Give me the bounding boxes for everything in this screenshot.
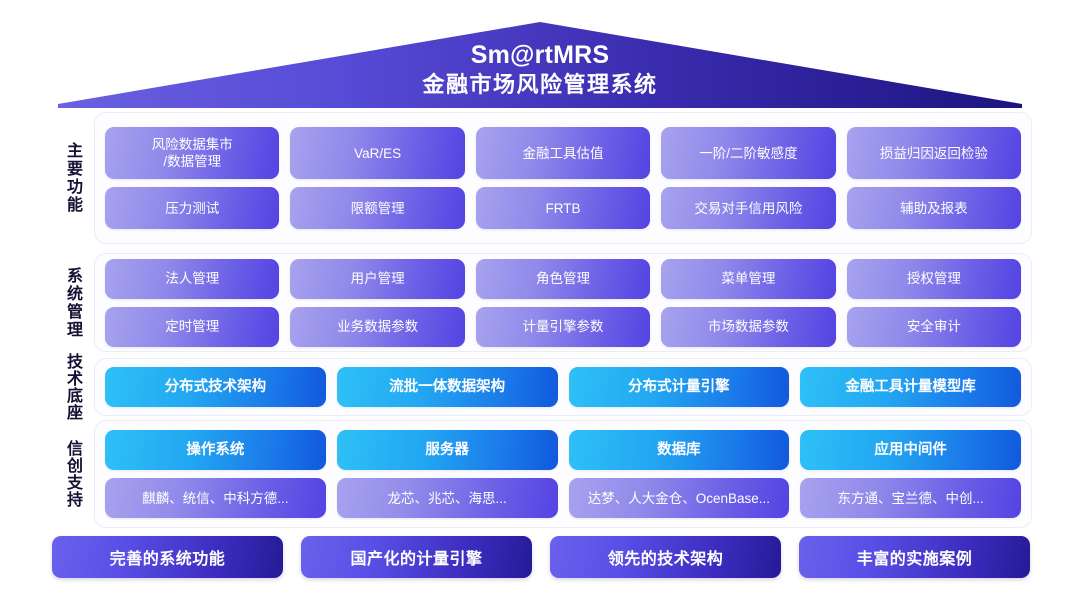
highlight-rich-implementation-cases[interactable]: 丰富的实施案例 <box>799 536 1030 578</box>
section-label-main-features: 主要功能 <box>50 142 94 214</box>
card-risk-data-mart[interactable]: 风险数据集市 /数据管理 <box>105 127 279 179</box>
section-label-technology-base: 技术底座 <box>50 353 94 421</box>
card-financial-instrument-valuation[interactable]: 金融工具估值 <box>476 127 650 179</box>
row-main-features-1: 风险数据集市 /数据管理 VaR/ES 金融工具估值 一阶/二阶敏感度 损益归因… <box>105 127 1021 179</box>
panel-system-management: 法人管理 用户管理 角色管理 菜单管理 授权管理 定时管理 业务数据参数 计量引… <box>94 253 1032 352</box>
highlight-complete-system-features[interactable]: 完善的系统功能 <box>52 536 283 578</box>
card-user-management[interactable]: 用户管理 <box>290 259 464 299</box>
roof-banner: Sm@rtMRS 金融市场风险管理系统 <box>0 0 1080 108</box>
card-financial-instrument-model-library[interactable]: 金融工具计量模型库 <box>800 367 1021 407</box>
bottom-highlights: 完善的系统功能 国产化的计量引擎 领先的技术架构 丰富的实施案例 <box>52 536 1030 578</box>
card-scheduled-management[interactable]: 定时管理 <box>105 307 279 347</box>
card-legal-entity-management[interactable]: 法人管理 <box>105 259 279 299</box>
card-frtb[interactable]: FRTB <box>476 187 650 229</box>
card-var-es[interactable]: VaR/ES <box>290 127 464 179</box>
roof-shape <box>0 0 1080 108</box>
card-counterparty-credit-risk[interactable]: 交易对手信用风险 <box>661 187 835 229</box>
section-main-features: 主要功能 风险数据集市 /数据管理 VaR/ES 金融工具估值 一阶/二阶敏感度… <box>50 112 1032 244</box>
row-system-management-2: 定时管理 业务数据参数 计量引擎参数 市场数据参数 安全审计 <box>105 307 1021 347</box>
highlight-leading-tech-architecture[interactable]: 领先的技术架构 <box>550 536 781 578</box>
card-server-vendors[interactable]: 龙芯、兆芯、海思... <box>337 478 558 518</box>
card-distributed-calculation-engine[interactable]: 分布式计量引擎 <box>569 367 790 407</box>
panel-main-features: 风险数据集市 /数据管理 VaR/ES 金融工具估值 一阶/二阶敏感度 损益归因… <box>94 112 1032 244</box>
card-business-data-params[interactable]: 业务数据参数 <box>290 307 464 347</box>
card-auxiliary-reports[interactable]: 辅助及报表 <box>847 187 1021 229</box>
section-label-system-management: 系统管理 <box>50 267 94 339</box>
card-security-audit[interactable]: 安全审计 <box>847 307 1021 347</box>
panel-xinchuang-support: 操作系统 服务器 数据库 应用中间件 麒麟、统信、中科方德... 龙芯、兆芯、海… <box>94 420 1032 528</box>
section-technology-base: 技术底座 分布式技术架构 流批一体数据架构 分布式计量引擎 金融工具计量模型库 <box>50 358 1032 416</box>
row-main-features-2: 压力测试 限额管理 FRTB 交易对手信用风险 辅助及报表 <box>105 187 1021 229</box>
card-application-middleware[interactable]: 应用中间件 <box>800 430 1021 470</box>
card-database-vendors[interactable]: 达梦、人大金仓、OcenBase... <box>569 478 790 518</box>
card-database[interactable]: 数据库 <box>569 430 790 470</box>
card-authorization-management[interactable]: 授权管理 <box>847 259 1021 299</box>
row-xinchuang-vendors: 麒麟、统信、中科方德... 龙芯、兆芯、海思... 达梦、人大金仓、OcenBa… <box>105 478 1021 518</box>
card-middleware-vendors[interactable]: 东方通、宝兰德、中创... <box>800 478 1021 518</box>
card-menu-management[interactable]: 菜单管理 <box>661 259 835 299</box>
section-label-xinchuang-support: 信创支持 <box>50 440 94 508</box>
row-xinchuang-headers: 操作系统 服务器 数据库 应用中间件 <box>105 430 1021 470</box>
card-server[interactable]: 服务器 <box>337 430 558 470</box>
panel-technology-base: 分布式技术架构 流批一体数据架构 分布式计量引擎 金融工具计量模型库 <box>94 358 1032 416</box>
card-market-data-params[interactable]: 市场数据参数 <box>661 307 835 347</box>
card-distributed-tech-architecture[interactable]: 分布式技术架构 <box>105 367 326 407</box>
card-os-vendors[interactable]: 麒麟、统信、中科方德... <box>105 478 326 518</box>
card-pnl-attribution-backtesting[interactable]: 损益归因返回检验 <box>847 127 1021 179</box>
card-calculation-engine-params[interactable]: 计量引擎参数 <box>476 307 650 347</box>
infographic-page: Sm@rtMRS 金融市场风险管理系统 主要功能 风险数据集市 /数据管理 Va… <box>0 0 1080 604</box>
row-technology-base: 分布式技术架构 流批一体数据架构 分布式计量引擎 金融工具计量模型库 <box>105 367 1021 407</box>
section-system-management: 系统管理 法人管理 用户管理 角色管理 菜单管理 授权管理 定时管理 业务数据参… <box>50 253 1032 352</box>
card-limit-management[interactable]: 限额管理 <box>290 187 464 229</box>
row-system-management-1: 法人管理 用户管理 角色管理 菜单管理 授权管理 <box>105 259 1021 299</box>
card-stream-batch-data-architecture[interactable]: 流批一体数据架构 <box>337 367 558 407</box>
section-xinchuang-support: 信创支持 操作系统 服务器 数据库 应用中间件 麒麟、统信、中科方德... 龙芯… <box>50 420 1032 528</box>
card-operating-system[interactable]: 操作系统 <box>105 430 326 470</box>
card-first-second-order-sensitivity[interactable]: 一阶/二阶敏感度 <box>661 127 835 179</box>
body-area: 主要功能 风险数据集市 /数据管理 VaR/ES 金融工具估值 一阶/二阶敏感度… <box>0 108 1080 604</box>
card-role-management[interactable]: 角色管理 <box>476 259 650 299</box>
highlight-domestic-calculation-engine[interactable]: 国产化的计量引擎 <box>301 536 532 578</box>
card-stress-testing[interactable]: 压力测试 <box>105 187 279 229</box>
